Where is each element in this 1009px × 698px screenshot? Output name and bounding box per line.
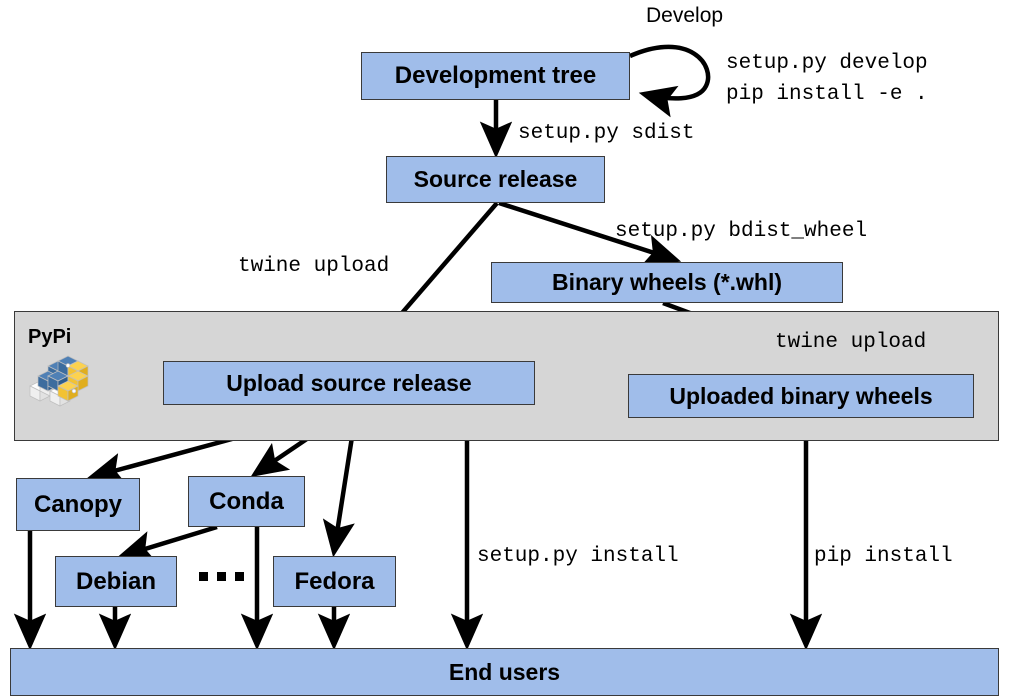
node-source-release[interactable]: Source release [386,156,605,203]
pypi-cubes-logo [26,354,92,408]
label-twine-upload-source: twine upload [238,255,389,278]
label-setup-py-install: setup.py install [477,545,679,568]
node-canopy[interactable]: Canopy [16,478,140,531]
node-fedora[interactable]: Fedora [273,556,396,607]
label-setup-py-develop: setup.py develop [726,52,928,75]
node-end-users[interactable]: End users [10,648,999,696]
node-conda[interactable]: Conda [188,476,305,527]
node-debian[interactable]: Debian [55,556,177,607]
ellipsis-dot [199,572,208,581]
node-upload-source-release[interactable]: Upload source release [163,361,535,405]
pypi-region-title: PyPi [28,326,71,349]
label-twine-upload-wheels: twine upload [775,331,926,354]
ellipsis-indicator [199,572,244,581]
label-pip-install: pip install [814,545,953,568]
label-setup-py-bdist-wheel: setup.py bdist_wheel [615,220,867,243]
label-pip-install-editable: pip install -e . [726,83,928,106]
label-develop: Develop [646,4,723,28]
node-binary-wheels[interactable]: Binary wheels (*.whl) [491,262,843,303]
ellipsis-dot [217,572,226,581]
node-development-tree[interactable]: Development tree [361,52,630,100]
ellipsis-dot [235,572,244,581]
node-uploaded-binary-wheels[interactable]: Uploaded binary wheels [628,374,974,418]
diagram-canvas: PyPi [0,0,1009,698]
label-setup-py-sdist: setup.py sdist [518,122,694,145]
